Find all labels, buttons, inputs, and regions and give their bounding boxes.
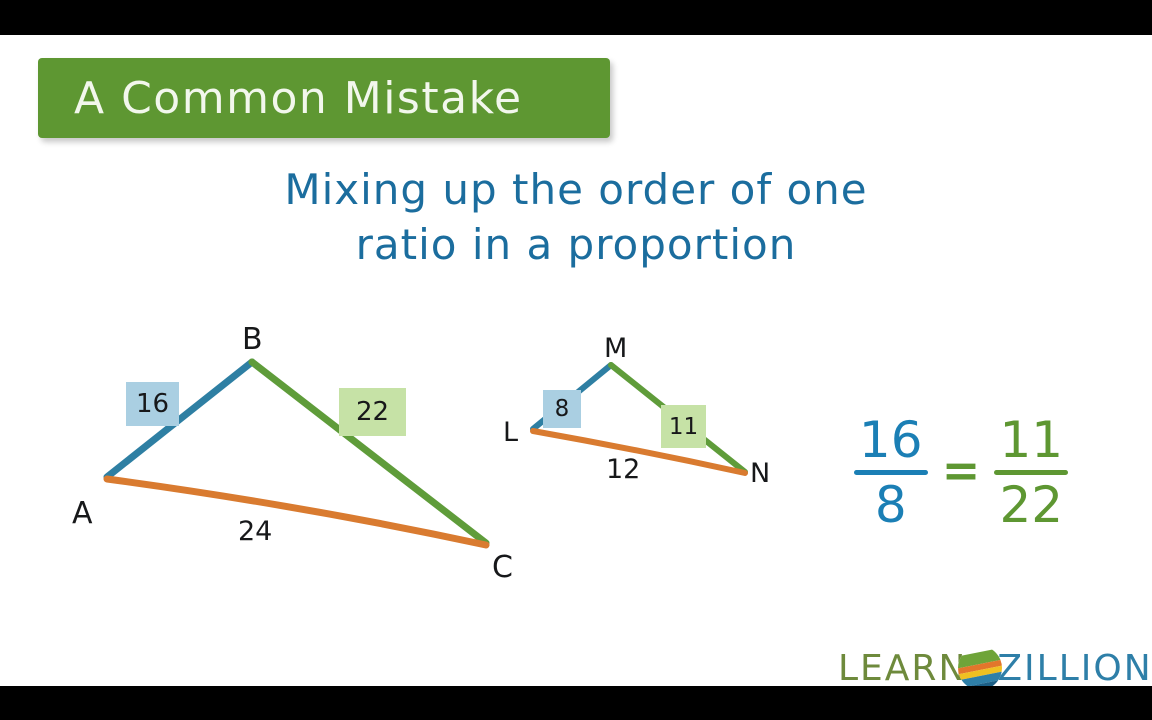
fraction-right-numerator: 11 bbox=[995, 413, 1067, 467]
fraction-left-bar bbox=[854, 470, 928, 475]
side-label-ac: 24 bbox=[238, 518, 272, 545]
vertex-label-l: L bbox=[503, 419, 518, 446]
video-frame: A Common Mistake Mixing up the order of … bbox=[0, 0, 1152, 720]
logo-text-zillion: ZILLION bbox=[997, 648, 1152, 687]
segment-ac bbox=[107, 479, 486, 545]
vertex-label-c: C bbox=[492, 553, 513, 583]
letterbox-top-bar bbox=[0, 0, 1152, 35]
side-label-bc: 22 bbox=[339, 388, 406, 436]
vertex-label-m: M bbox=[604, 335, 627, 362]
triangles-diagram: A B C 16 22 24 L M N 8 11 12 bbox=[0, 35, 1152, 686]
logo-text-learn: LEARN bbox=[838, 648, 967, 687]
fraction-left-numerator: 16 bbox=[855, 413, 927, 467]
globe-stripes-icon bbox=[957, 645, 1003, 686]
vertex-label-b: B bbox=[242, 325, 263, 355]
fraction-left-denominator: 8 bbox=[871, 478, 911, 532]
side-label-mn: 11 bbox=[661, 405, 706, 448]
side-label-ln: 12 bbox=[606, 456, 640, 483]
side-label-ab: 16 bbox=[126, 382, 179, 426]
fraction-right: 11 22 bbox=[994, 413, 1068, 532]
side-label-lm: 8 bbox=[543, 390, 581, 428]
fraction-right-denominator: 22 bbox=[995, 478, 1067, 532]
vertex-label-n: N bbox=[750, 460, 770, 487]
letterbox-bottom-bar bbox=[0, 686, 1152, 720]
fraction-right-bar bbox=[994, 470, 1068, 475]
slide-canvas: A Common Mistake Mixing up the order of … bbox=[0, 35, 1152, 686]
fraction-left: 16 8 bbox=[854, 413, 928, 532]
triangles-svg bbox=[0, 35, 1152, 686]
learnzillion-logo: LEARN ZILLION bbox=[838, 642, 1152, 686]
vertex-label-a: A bbox=[72, 499, 93, 529]
proportion-equation: 16 8 = 11 22 bbox=[846, 407, 1076, 537]
equals-sign: = bbox=[942, 447, 981, 497]
